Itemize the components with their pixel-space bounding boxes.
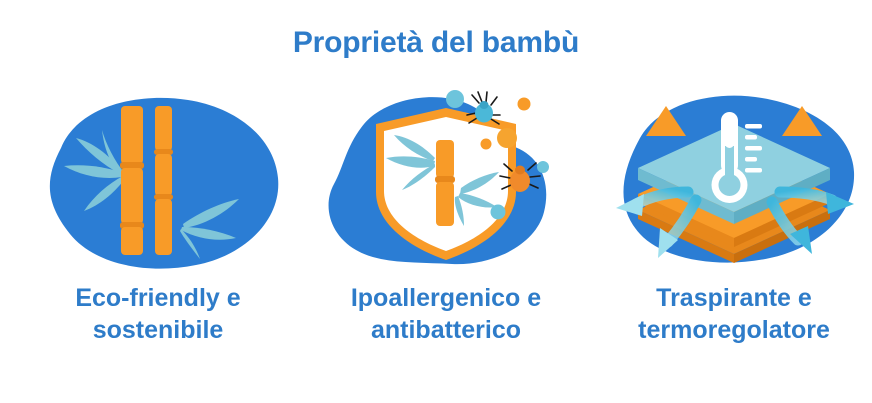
card-hypoallergenic: Ipoallergenico e antibatterico (302, 88, 590, 346)
cards-row: Eco-friendly e sostenibile (0, 88, 872, 388)
shield-bamboo-bugs-icon (316, 88, 576, 276)
orange-dot-top-right (518, 98, 531, 111)
orange-dot-mid-right (497, 128, 517, 148)
bug-orange-head (515, 166, 525, 175)
teal-dot-lower-right (491, 205, 506, 220)
breathable-layers-thermometer-icon (604, 88, 864, 276)
bamboo-stalk-shield (435, 140, 455, 226)
teal-dot-top (446, 90, 464, 108)
card-eco-friendly: Eco-friendly e sostenibile (14, 88, 302, 346)
teal-dot-right (537, 161, 549, 173)
card-caption-breathable: Traspirante e termoregolatore (584, 282, 872, 346)
orange-dot-shield (481, 139, 492, 150)
card-caption-hypoallergenic: Ipoallergenico e antibatterico (301, 282, 591, 346)
bamboo-stalk-left (120, 106, 144, 255)
card-caption-eco-friendly: Eco-friendly e sostenibile (13, 282, 303, 346)
infographic-root: Proprietà del bambù (0, 0, 872, 403)
bamboo-stalk-right (154, 106, 173, 255)
bug-teal-head (480, 101, 489, 109)
card-breathable: Traspirante e termoregolatore (590, 88, 872, 346)
page-title: Proprietà del bambù (0, 26, 872, 59)
bamboo-stalks-icon (28, 88, 288, 276)
